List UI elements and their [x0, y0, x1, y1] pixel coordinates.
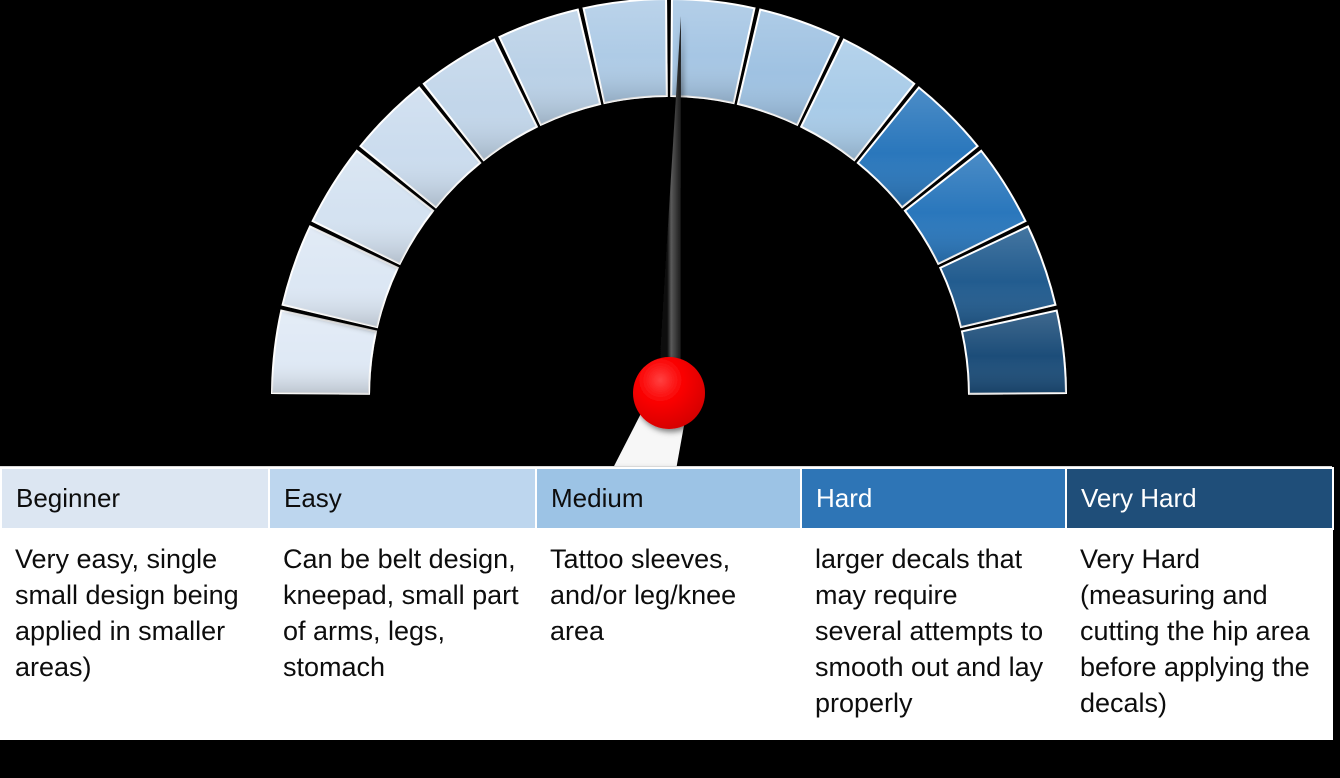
cell-text: Very easy, single small design being app… [15, 542, 255, 686]
cell-text: larger decals that may require several a… [815, 542, 1052, 722]
cell-beginner-description: Very easy, single small design being app… [1, 529, 269, 740]
difficulty-legend-table: Beginner Easy Medium Hard Very Hard Very… [0, 466, 1332, 740]
column-header-hard[interactable]: Hard [801, 468, 1066, 529]
slide-canvas: Beginner Easy Medium Hard Very Hard Very… [0, 0, 1340, 778]
matrix-table: Beginner Easy Medium Hard Very Hard Very… [0, 467, 1334, 740]
table-header-row: Beginner Easy Medium Hard Very Hard [1, 468, 1333, 529]
cell-very-hard-description: Very Hard (measuring and cutting the hip… [1066, 529, 1333, 740]
gauge-svg [0, 0, 1340, 470]
cell-text: Can be belt design, kneepad, small part … [283, 542, 522, 686]
difficulty-gauge [0, 0, 1340, 470]
column-header-beginner[interactable]: Beginner [1, 468, 269, 529]
column-header-very-hard[interactable]: Very Hard [1066, 468, 1333, 529]
gauge-hub [633, 357, 705, 429]
cell-text: Tattoo sleeves, and/or leg/knee area [550, 542, 787, 650]
cell-easy-description: Can be belt design, kneepad, small part … [269, 529, 536, 740]
column-header-medium[interactable]: Medium [536, 468, 801, 529]
cell-hard-description: larger decals that may require several a… [801, 529, 1066, 740]
table-row: Very easy, single small design being app… [1, 529, 1333, 740]
cell-medium-description: Tattoo sleeves, and/or leg/knee area [536, 529, 801, 740]
column-header-easy[interactable]: Easy [269, 468, 536, 529]
cell-text: Very Hard (measuring and cutting the hip… [1080, 542, 1319, 722]
